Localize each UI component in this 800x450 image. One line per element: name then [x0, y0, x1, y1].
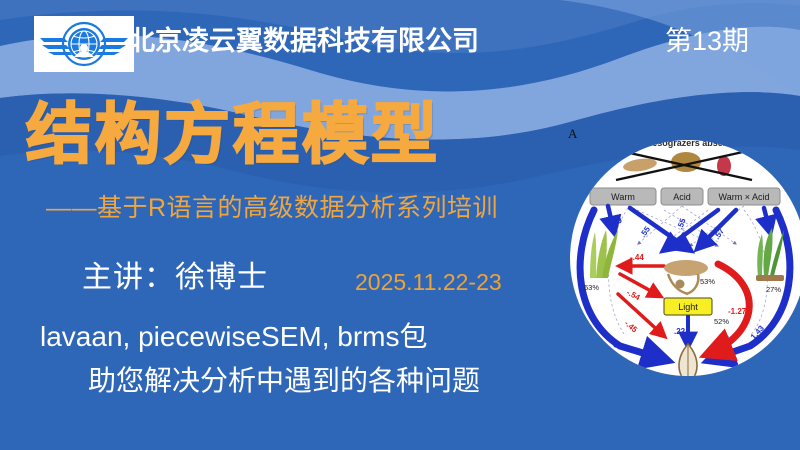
page-subtitle: ——基于R语言的高级数据分析系列培训 — [46, 191, 498, 225]
tagline: 助您解决分析中遇到的各种问题 — [88, 362, 480, 400]
course-dates: 2025.11.22-23 — [355, 265, 502, 299]
treatment-warm-label: Warm — [611, 192, 635, 202]
winged-globe-logo-icon — [38, 19, 130, 69]
panel-letter-label: A — [568, 126, 577, 142]
treatment-acid-label: Acid — [673, 192, 691, 202]
diagram-top-caption: Mesograzers absent — [645, 138, 732, 148]
poster-header: 北京凌云翼数据科技有限公司 第13期 — [0, 0, 800, 88]
sem-path-diagram: A Mesograzers absent — [568, 118, 800, 398]
r-packages-line: lavaan, piecewiseSEM, brms包 — [40, 318, 427, 356]
mesograzer-r2: 53% — [700, 277, 715, 286]
treatment-box-warm-acid: Warm × Acid — [708, 188, 780, 205]
speaker-label: 主讲：徐博士 — [82, 258, 268, 298]
treatment-warm-acid-label: Warm × Acid — [719, 192, 770, 202]
seagrass-r2: 63% — [584, 283, 599, 292]
coef-label-8: -1.27 — [728, 307, 747, 316]
poster-root: 北京凌云翼数据科技有限公司 第13期 结构方程模型 ——基于R语言的高级数据分析… — [0, 0, 800, 450]
company-logo — [34, 16, 134, 72]
company-name: 北京凌云翼数据科技有限公司 — [128, 19, 479, 63]
coef-label-9: .22 — [674, 327, 686, 336]
treatment-box-warm: Warm — [590, 188, 656, 205]
coef-label-5: -.44 — [630, 253, 644, 262]
light-node: Light — [664, 298, 712, 315]
page-title: 结构方程模型 — [26, 96, 440, 172]
treatment-box-acid: Acid — [661, 188, 703, 205]
light-r2: 52% — [714, 317, 729, 326]
microalgae-r2: 85% — [680, 387, 695, 396]
light-node-label: Light — [678, 302, 698, 312]
macroalgae-r2: 27% — [766, 285, 781, 294]
sem-diagram-graphic: Mesograzers absent Warm — [568, 118, 800, 398]
issue-number-badge: 第13期 — [665, 19, 749, 63]
